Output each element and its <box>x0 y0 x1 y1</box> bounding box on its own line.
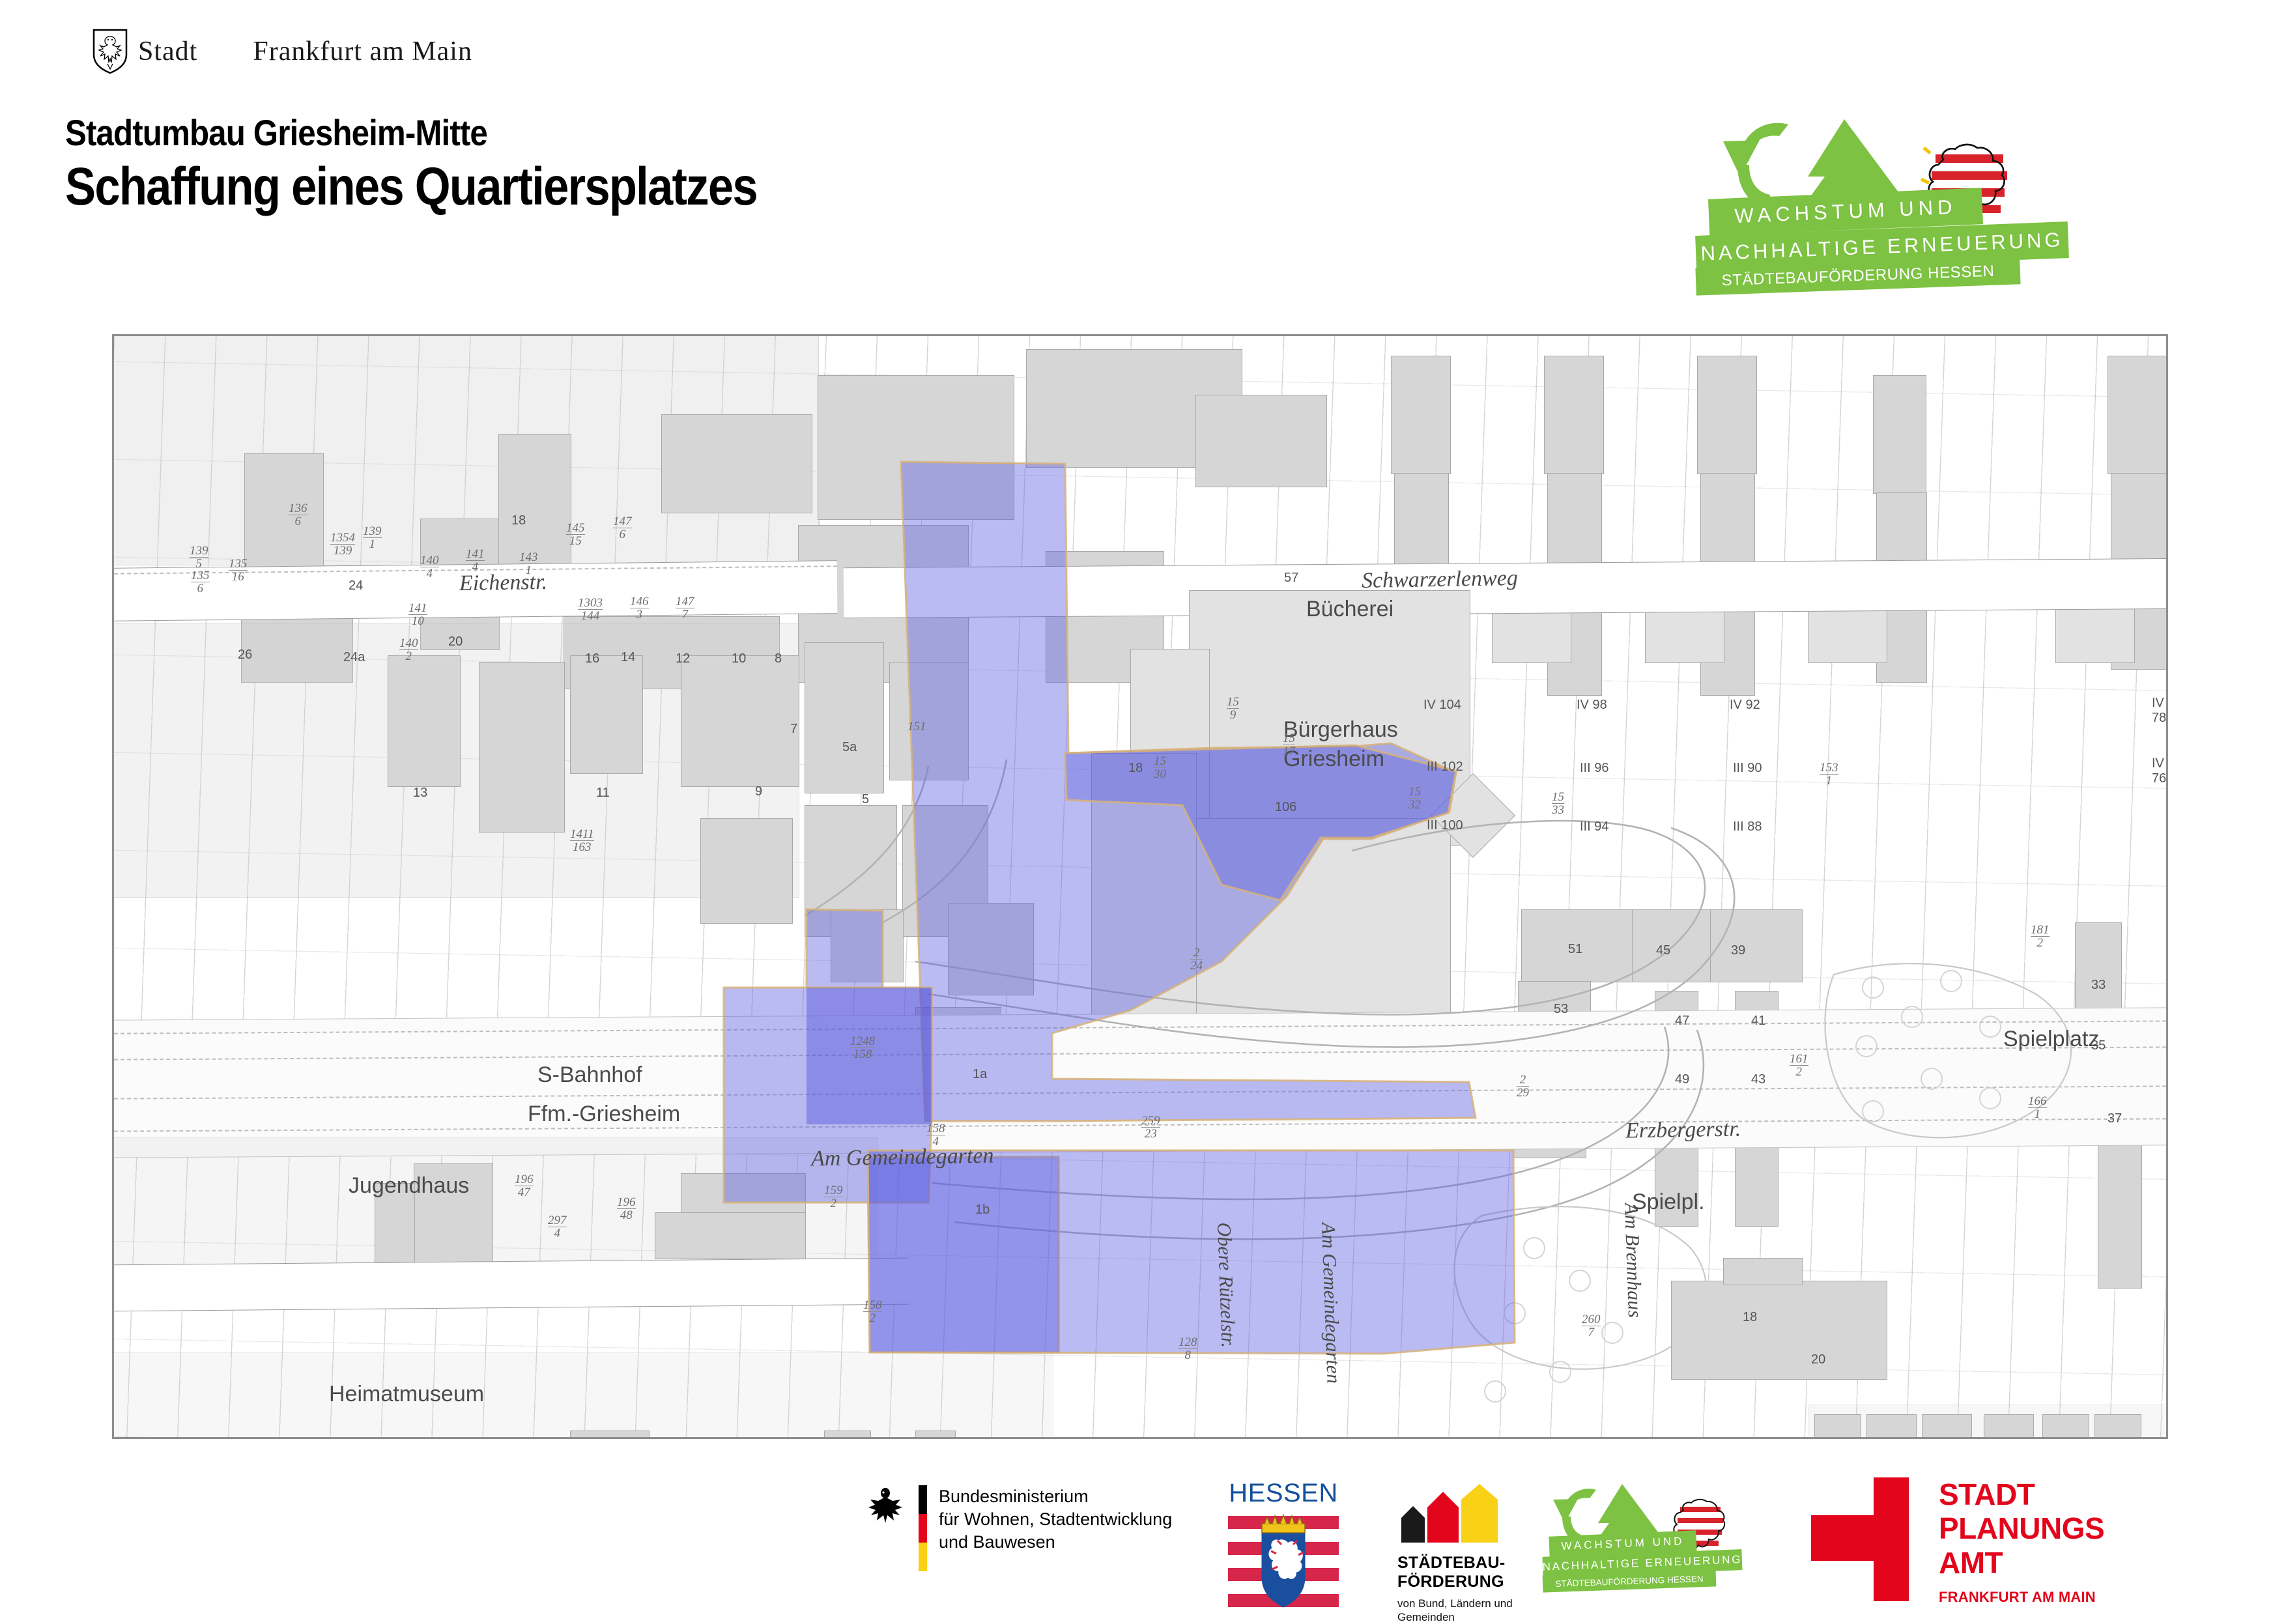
house-number: IV 104 <box>1423 698 1461 713</box>
parcel-number: 1402 <box>399 637 418 662</box>
logo-hessen: HESSEN <box>1222 1479 1345 1616</box>
house-number: 1a <box>973 1067 987 1082</box>
parcel-number: 1476 <box>613 515 632 541</box>
street-label: Schwarzerlenweg <box>1362 566 1518 593</box>
parcel-number: 224 <box>1190 947 1203 972</box>
bmwsb-line-3: und Bauwesen <box>939 1531 1172 1554</box>
street-label-vertical: Am Brennhaus <box>1620 1203 1646 1318</box>
house-number: 1b <box>975 1203 990 1218</box>
parcel-number: 1612 <box>1790 1053 1808 1078</box>
house-number: 5 <box>862 792 869 807</box>
house-number: 8 <box>775 651 782 666</box>
house-number: 16 <box>585 651 599 666</box>
city-logo-wordmark: Stadt Frankfurt am Main <box>138 36 472 67</box>
parcel-number: 1592 <box>824 1184 843 1210</box>
logo-bundesministerium: Bundesministerium für Wohnen, Stadtentwi… <box>866 1485 1172 1571</box>
parcel-number: 1530 <box>1154 755 1166 780</box>
house-number: 20 <box>448 634 463 649</box>
parcel-number: 1431 <box>519 551 538 577</box>
parcel-number: 1248158 <box>850 1035 875 1061</box>
parcel-number: 1463 <box>630 595 649 621</box>
street-label-vertical: Obere Rützelstr. <box>1212 1222 1239 1348</box>
house-number: 24 <box>349 578 363 593</box>
parcel-number: 1582 <box>863 1299 882 1324</box>
parcel-number: 159 <box>1227 696 1239 721</box>
building <box>720 1437 762 1439</box>
spa-line-2: PLANUNGS <box>1939 1511 2104 1545</box>
house-number: 39 <box>1731 943 1745 958</box>
house-number: 37 <box>2107 1111 2122 1126</box>
parcel-number: 1404 <box>420 554 439 580</box>
parcel-number: 2607 <box>1582 1313 1601 1339</box>
house-number: III 88 <box>1733 819 1762 834</box>
house-number: IV 78 <box>2152 696 2166 726</box>
house-number: IV 92 <box>1730 698 1760 713</box>
house-number: 51 <box>1568 942 1582 957</box>
parcel-number: 14515 <box>566 522 585 547</box>
house-number: III 96 <box>1580 761 1608 776</box>
building <box>948 1437 1014 1439</box>
parcel-number: 1517 <box>1283 732 1295 758</box>
parcel-number: 1288 <box>1179 1336 1197 1361</box>
house-number: 35 <box>2117 1437 2132 1439</box>
parcel-number: 25923 <box>1141 1115 1160 1140</box>
parcel-number: 2974 <box>548 1214 567 1240</box>
place-label: Spielpl. <box>1632 1190 1705 1215</box>
house-number: 20 <box>1811 1352 1825 1367</box>
program-logo-wachstum-und-nachhaltige-erneuerung: WACHSTUM UND NACHHALTIGE ERNEUERUNG STÄD… <box>1697 114 2166 283</box>
spa-line-1: STADT <box>1939 1477 2104 1511</box>
house-number: III 100 <box>1427 818 1463 833</box>
parcel-number: 151 <box>907 720 926 733</box>
building <box>225 1437 278 1439</box>
house-number: 47 <box>1675 1014 1689 1029</box>
parcel-number: 13516 <box>229 558 248 583</box>
staedtebau-line-2: FÖRDERUNG <box>1397 1573 1513 1591</box>
city-logo-word-stadt: Stadt <box>138 36 197 67</box>
hessen-wordmark: HESSEN <box>1222 1479 1345 1508</box>
house-number: IV 98 <box>1577 698 1607 713</box>
city-logo-word-frankfurt: Frankfurt am Main <box>253 36 472 67</box>
spa-subtitle: FRANKFURT AM MAIN <box>1939 1589 2104 1606</box>
building <box>427 1437 475 1439</box>
place-label: Spielplatz <box>2003 1027 2099 1052</box>
hessen-state-crest <box>1222 1512 1345 1613</box>
place-label: Jugendhaus <box>349 1173 469 1199</box>
parcel-number: 14110 <box>408 602 427 627</box>
parcel-number: 1366 <box>289 502 307 528</box>
place-label: Heimatmuseum <box>329 1382 484 1407</box>
stadtplanungsamt-mark <box>1811 1477 1909 1601</box>
house-number: III 90 <box>1733 761 1762 776</box>
parcel-number: 1391 <box>363 525 382 550</box>
house-number: 41 <box>1751 1014 1765 1029</box>
house-number: 14 <box>621 650 635 665</box>
house-number: 18 <box>1128 761 1143 776</box>
parcel-number: 1395 <box>190 545 208 570</box>
page-subtitle: Stadtumbau Griesheim-Mitte <box>65 114 773 152</box>
planungsgebiet-highlight <box>114 336 2166 1437</box>
house-number: 106 <box>1275 800 1296 815</box>
house-number: 35 <box>2091 1038 2106 1053</box>
building <box>676 1437 717 1439</box>
parcel-number: 1533 <box>1552 791 1564 816</box>
parcel-number: 229 <box>1517 1074 1529 1099</box>
house-number: 9 <box>755 784 762 799</box>
house-number: 45 <box>1656 943 1670 958</box>
house-number: 26 <box>238 648 252 662</box>
bmwsb-line-2: für Wohnen, Stadtentwicklung <box>939 1508 1172 1531</box>
street-label: Erzbergerstr. <box>1625 1117 1741 1143</box>
page-title: Schaffung eines Quartiersplatzes <box>65 159 757 216</box>
house-number: III 94 <box>1580 819 1608 834</box>
staedtebau-line-1: STÄDTEBAU- <box>1397 1554 1513 1573</box>
logo-staedtebaufoerderung: STÄDTEBAU- FÖRDERUNG von Bund, Ländern u… <box>1397 1484 1513 1624</box>
parcel-number: 19648 <box>617 1196 636 1221</box>
staedtebau-sub-2: Gemeinden <box>1397 1610 1513 1624</box>
house-number: IV 76 <box>2152 756 2166 786</box>
three-houses-icon <box>1397 1484 1505 1543</box>
building <box>765 1437 807 1439</box>
frankfurt-eagle-crest <box>91 29 129 74</box>
street-label: Am Gemeindegarten <box>811 1144 994 1172</box>
place-label: S-Bahnhof <box>537 1062 642 1088</box>
house-number: 13 <box>413 786 427 801</box>
federal-eagle-icon <box>866 1485 904 1527</box>
house-number: 49 <box>1675 1072 1689 1087</box>
spa-line-3: AMT <box>1939 1546 2104 1580</box>
parcel-number: 1532 <box>1408 786 1421 811</box>
house-number: 36 <box>2072 1437 2086 1439</box>
house-number: 10 <box>732 651 746 666</box>
house-number: 43 <box>1751 1072 1765 1087</box>
title-block: Stadtumbau Griesheim-Mitte Schaffung ein… <box>65 114 870 216</box>
house-number: 37 <box>2016 1437 2031 1439</box>
parcel-number: 19647 <box>515 1173 534 1199</box>
house-number: 38 <box>1844 1437 1858 1439</box>
parcel-number: 1414 <box>466 548 485 573</box>
parcel-number: 1661 <box>2028 1095 2047 1120</box>
place-label: Griesheim <box>1283 747 1384 772</box>
parcel-number: 1477 <box>676 595 694 621</box>
parcel-number: 1584 <box>926 1122 945 1148</box>
house-number: 11 <box>596 786 610 801</box>
cadastral-map[interactable]: Eichenstr.SchwarzerlenwegErzbergerstr.Am… <box>112 334 2168 1439</box>
house-number: III 102 <box>1427 760 1463 775</box>
house-number: 18 <box>511 513 526 528</box>
house-number: 7 <box>790 722 797 737</box>
staedtebau-sub-1: von Bund, Ländern und <box>1397 1597 1513 1610</box>
logo-stadtplanungsamt: STADT PLANUNGS AMT FRANKFURT AM MAIN <box>1811 1477 2104 1606</box>
house-number: 57 <box>1284 571 1298 586</box>
place-label: Ffm.-Griesheim <box>528 1102 680 1127</box>
house-number: 53 <box>1554 1002 1568 1017</box>
parcel-number: 1531 <box>1820 762 1838 787</box>
logo-wachstum-footer: WACHSTUM UND NACHHALTIGE ERNEUERUNG STÄD… <box>1544 1480 1792 1604</box>
city-of-frankfurt-logo: Stadt Frankfurt am Main <box>91 29 508 74</box>
house-number: 33 <box>2091 978 2106 993</box>
building <box>635 1437 677 1439</box>
house-number: 18 <box>1743 1310 1757 1325</box>
parcel-number: 1411163 <box>570 828 594 853</box>
parcel-number: 1354139 <box>330 532 355 557</box>
page-header: Stadt Frankfurt am Main Stadtumbau Gries… <box>0 0 2286 326</box>
place-label: Bücherei <box>1306 597 1393 622</box>
page-footer: Bundesministerium für Wohnen, Stadtentwi… <box>0 1466 2286 1616</box>
building <box>474 1437 522 1439</box>
house-number: 5a <box>842 740 857 755</box>
parcel-number: 1303144 <box>578 597 603 622</box>
place-label: Bürgerhaus <box>1283 717 1398 743</box>
parcel-number: 1812 <box>2031 924 2050 949</box>
parcel-number: 1356 <box>191 569 210 595</box>
house-number: 24a <box>343 650 365 665</box>
bmwsb-line-1: Bundesministerium <box>939 1485 1172 1508</box>
house-number: 12 <box>676 651 690 666</box>
